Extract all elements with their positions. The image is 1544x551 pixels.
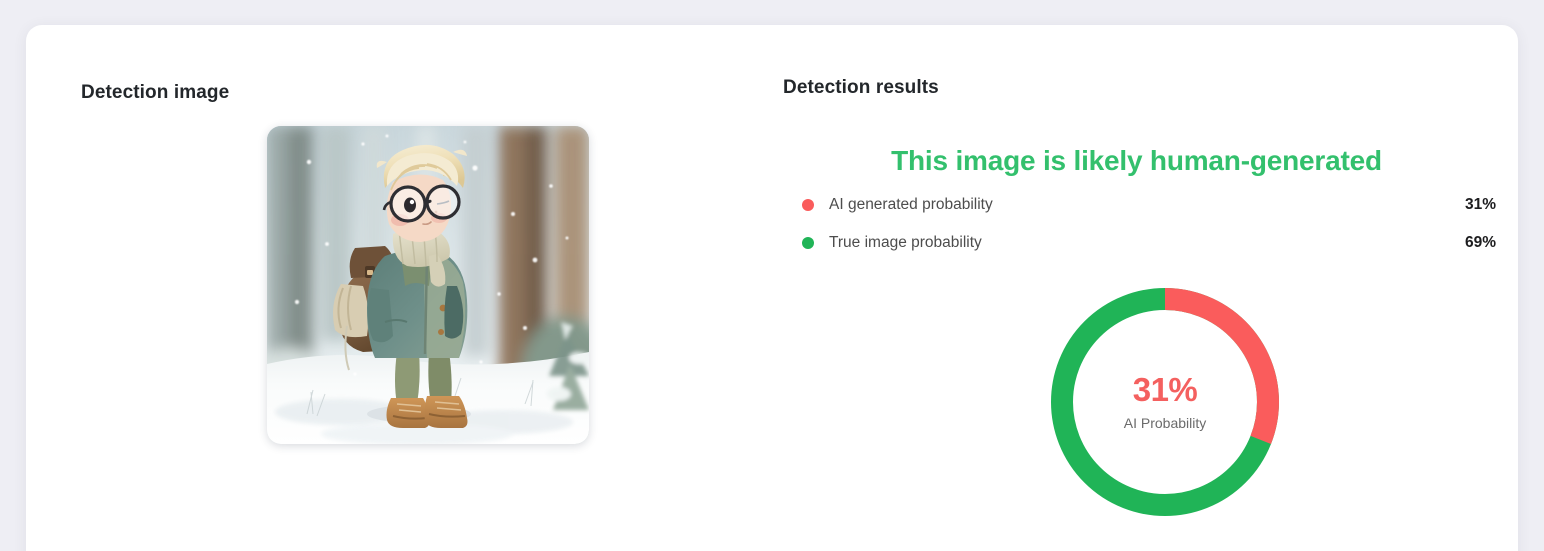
detection-result-page: Detection image xyxy=(0,0,1544,551)
detection-image-panel: Detection image xyxy=(26,25,756,551)
detection-thumbnail[interactable] xyxy=(267,126,589,444)
donut-center-label-group: 31% AI Probability xyxy=(1051,288,1279,516)
probability-legend: AI generated probability 31% True image … xyxy=(802,186,1518,262)
detection-image-title: Detection image xyxy=(81,82,229,104)
legend-row-true-image: True image probability 69% xyxy=(802,224,1518,262)
detection-result-card: Detection image xyxy=(26,25,1518,551)
legend-value-true-image: 69% xyxy=(1465,234,1496,252)
detection-results-title: Detection results xyxy=(783,77,939,99)
verdict-text: This image is likely human-generated xyxy=(756,145,1517,177)
ai-probability-donut-chart: 31% AI Probability xyxy=(1051,288,1279,516)
legend-dot-true-icon xyxy=(802,237,814,249)
legend-label-true-image: True image probability xyxy=(829,234,982,252)
donut-center-caption: AI Probability xyxy=(1124,415,1206,431)
detection-results-panel: Detection results This image is likely h… xyxy=(756,25,1518,551)
legend-label-ai-generated: AI generated probability xyxy=(829,196,993,214)
donut-center-percentage: 31% xyxy=(1133,373,1198,406)
legend-value-ai-generated: 31% xyxy=(1465,196,1496,214)
legend-row-ai-generated: AI generated probability 31% xyxy=(802,186,1518,224)
legend-dot-ai-icon xyxy=(802,199,814,211)
